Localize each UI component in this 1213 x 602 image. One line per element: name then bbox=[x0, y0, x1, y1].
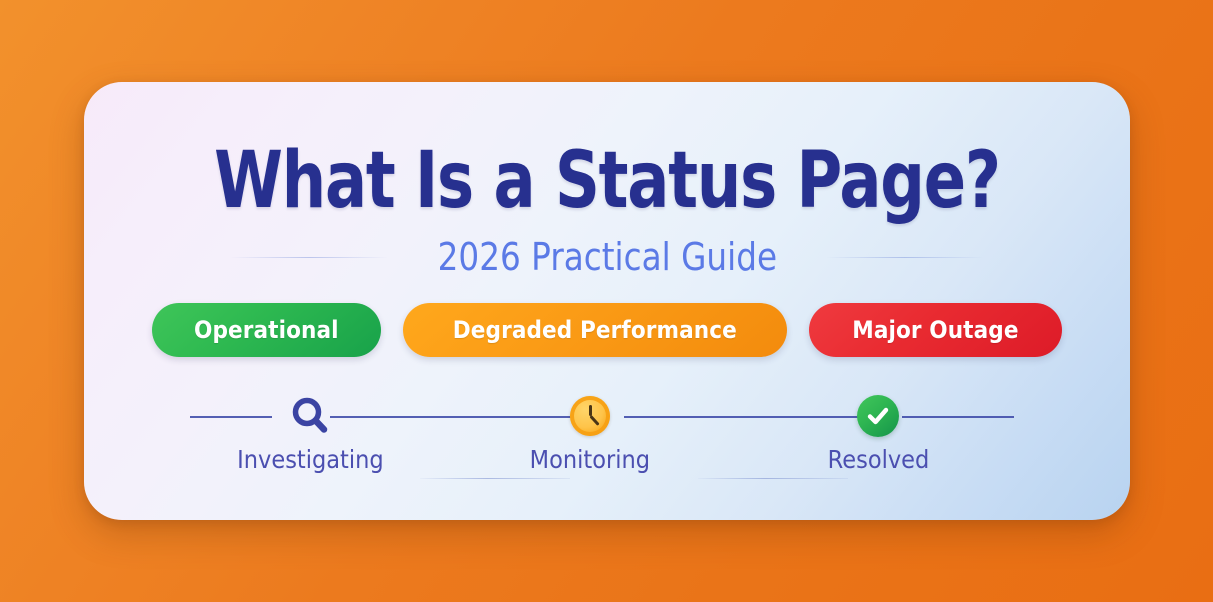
check-circle-background bbox=[857, 395, 899, 437]
timeline-label-rule-2 bbox=[698, 478, 848, 479]
clock-icon bbox=[567, 393, 613, 439]
incident-timeline: Investigating Monitoring bbox=[190, 400, 1014, 500]
status-badge-degraded[interactable]: Degraded Performance bbox=[403, 303, 787, 357]
status-badge-major-outage-label: Major Outage bbox=[852, 316, 1018, 344]
status-badge-operational[interactable]: Operational bbox=[152, 303, 381, 357]
timeline-label-rule-1 bbox=[420, 478, 570, 479]
subtitle-rule-left bbox=[230, 257, 388, 258]
timeline-step-investigating[interactable]: Investigating bbox=[250, 400, 370, 475]
magnifier-icon bbox=[287, 393, 333, 439]
subtitle-row: 2026 Practical Guide bbox=[84, 234, 1130, 280]
timeline-step-resolved[interactable]: Resolved bbox=[818, 400, 938, 475]
status-badge-major-outage[interactable]: Major Outage bbox=[809, 303, 1062, 357]
status-badge-group: Operational Degraded Performance Major O… bbox=[84, 303, 1130, 357]
subtitle-rule-right bbox=[826, 257, 984, 258]
timeline-step-monitoring-label: Monitoring bbox=[530, 445, 650, 475]
status-badge-operational-label: Operational bbox=[194, 316, 339, 344]
clock-hand-minute bbox=[589, 415, 599, 426]
timeline-step-monitoring[interactable]: Monitoring bbox=[530, 400, 650, 475]
page-subtitle: 2026 Practical Guide bbox=[437, 234, 776, 280]
poster-canvas: What Is a Status Page? 2026 Practical Gu… bbox=[0, 0, 1213, 602]
clock-face bbox=[570, 396, 610, 436]
timeline-step-resolved-label: Resolved bbox=[827, 445, 929, 475]
status-badge-degraded-label: Degraded Performance bbox=[453, 316, 737, 344]
timeline-step-investigating-label: Investigating bbox=[237, 445, 384, 475]
check-circle-icon bbox=[855, 393, 901, 439]
status-page-card: What Is a Status Page? 2026 Practical Gu… bbox=[84, 82, 1130, 520]
page-title: What Is a Status Page? bbox=[189, 138, 1026, 224]
